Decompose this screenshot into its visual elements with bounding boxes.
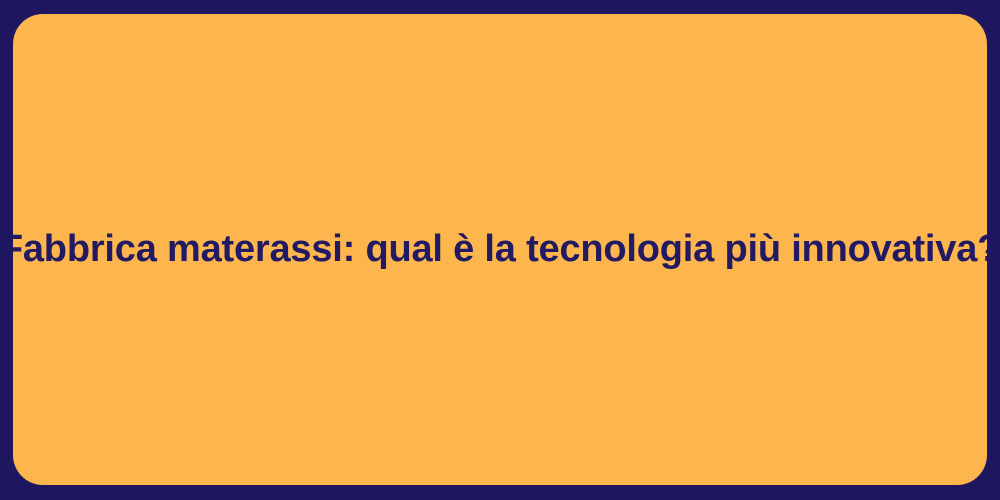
page-title: Fabbrica materassi: qual è la tecnologia…: [13, 226, 987, 274]
banner-frame: Fabbrica materassi: qual è la tecnologia…: [0, 0, 1000, 500]
headline-card: Fabbrica materassi: qual è la tecnologia…: [13, 14, 987, 485]
